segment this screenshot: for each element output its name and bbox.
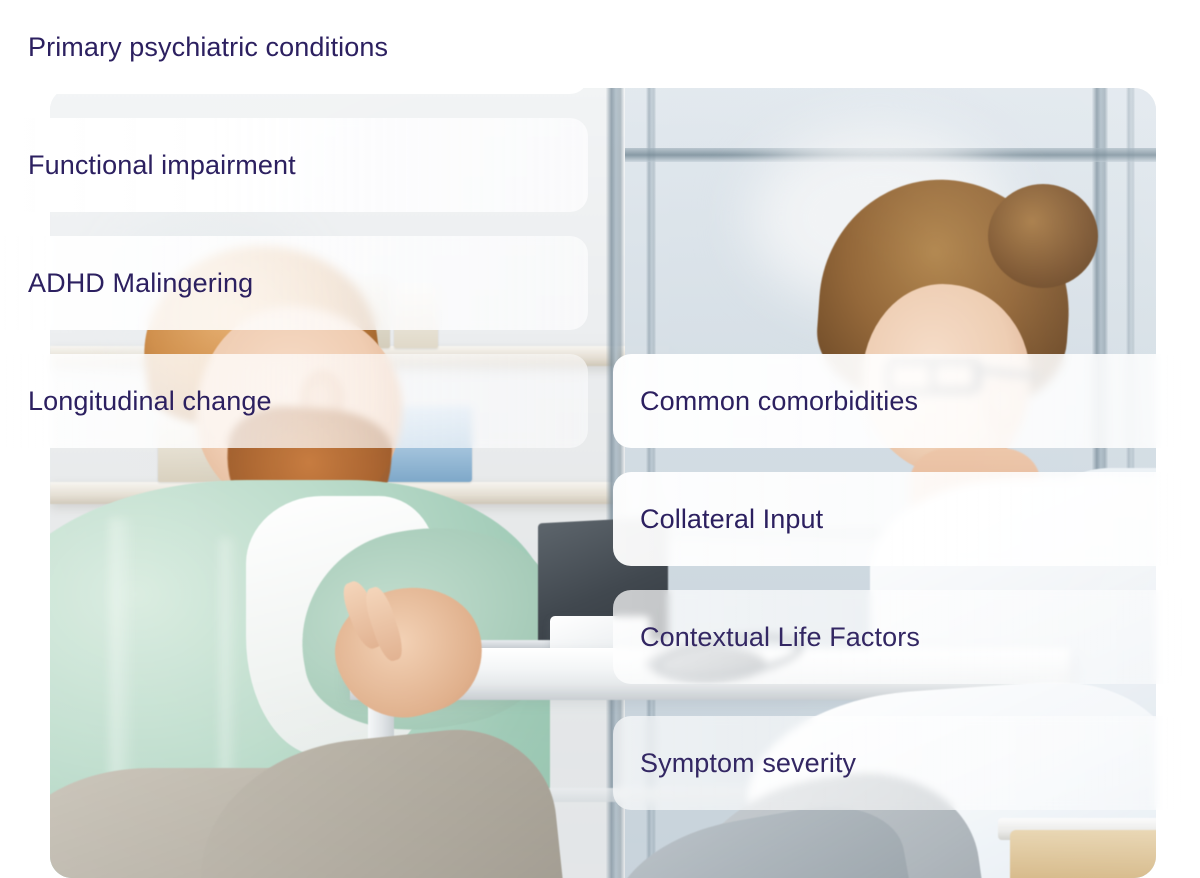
card-primary-psychiatric-conditions[interactable]: Primary psychiatric conditions xyxy=(0,0,588,94)
doctor-hair-bun xyxy=(988,184,1098,288)
page-root: Primary psychiatric conditions Functiona… xyxy=(0,0,1200,878)
card-label: Collateral Input xyxy=(640,506,823,533)
card-label: Functional impairment xyxy=(28,152,296,179)
card-common-comorbidities[interactable]: Common comorbidities xyxy=(613,354,1185,448)
card-functional-impairment[interactable]: Functional impairment xyxy=(0,118,588,212)
card-label: Symptom severity xyxy=(640,750,856,777)
card-adhd-malingering[interactable]: ADHD Malingering xyxy=(0,236,588,330)
card-label: Contextual Life Factors xyxy=(640,624,920,651)
card-label: Primary psychiatric conditions xyxy=(28,34,388,61)
card-contextual-life-factors[interactable]: Contextual Life Factors xyxy=(613,590,1185,684)
card-collateral-input[interactable]: Collateral Input xyxy=(613,472,1185,566)
wooden-stool xyxy=(1010,830,1156,878)
card-label: Common comorbidities xyxy=(640,388,918,415)
card-longitudinal-change[interactable]: Longitudinal change xyxy=(0,354,588,448)
card-label: Longitudinal change xyxy=(28,388,272,415)
card-symptom-severity[interactable]: Symptom severity xyxy=(613,716,1185,810)
card-label: ADHD Malingering xyxy=(28,270,253,297)
